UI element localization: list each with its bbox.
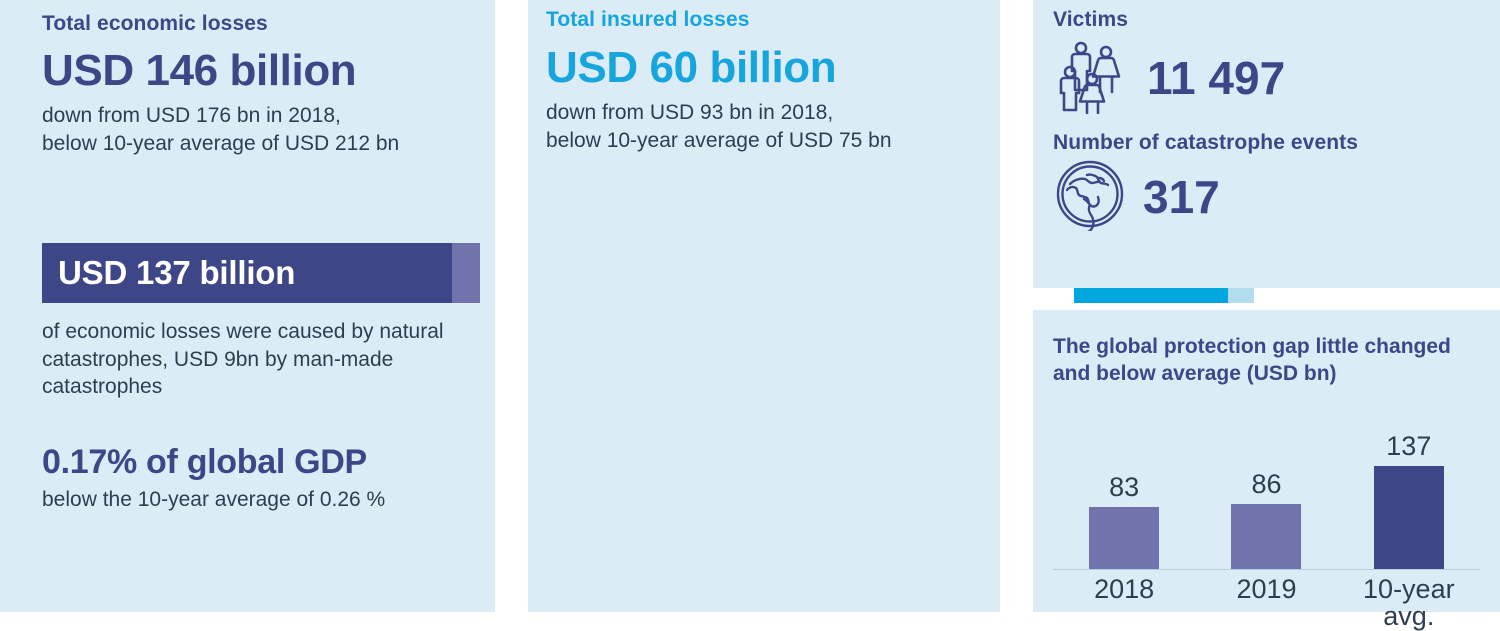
infographic-root: Total economic losses USD 146 billion do… [0,0,1500,612]
economic-nat-cat-bar: USD 137 billion [42,243,480,303]
chart-value-label: 137 [1386,433,1431,460]
chart-category-labels: 2018 2019 10-year avg. [1053,576,1480,630]
economic-bar-segment-manmade [452,243,480,303]
chart-column: 137 [1349,433,1469,569]
family-people-icon [1053,36,1131,119]
panel-total-insured-losses: Total insured losses USD 60 billion down… [528,0,1000,612]
insured-eyebrow-label: Total insured losses [546,8,982,32]
victims-stat-row: 11 497 [1053,36,1480,119]
chart-content: The global protection gap little changed… [1033,310,1500,630]
economic-gdp-subtext: below the 10-year average of 0.26 % [42,486,462,514]
chart-title: The global protection gap little changed… [1053,334,1480,388]
catastrophe-events-label: Number of catastrophe events [1053,131,1480,155]
economic-headline: USD 146 billion [42,48,453,94]
economic-gdp-block: 0.17% of global GDP below the 10-year av… [42,443,462,513]
chart-bar [1089,507,1159,569]
panel-total-economic-losses: Total economic losses USD 146 billion do… [0,0,495,612]
chart-plot-area: 83 86 137 [1053,410,1480,570]
chart-value-label: 83 [1109,474,1139,501]
insured-headline: USD 60 billion [546,45,982,91]
economic-gdp-headline: 0.17% of global GDP [42,443,462,482]
stats-content: Victims [1033,0,1500,236]
economic-subtext: down from USD 176 bn in 2018, below 10-y… [42,102,453,157]
chart-x-axis-line [1053,569,1480,570]
economic-content: Total economic losses USD 146 billion do… [0,0,495,158]
chart-value-label: 86 [1251,471,1281,498]
chart-bar [1231,504,1301,569]
victims-label: Victims [1053,8,1480,32]
events-stat-row: 317 [1053,157,1480,236]
insured-content: Total insured losses USD 60 billion down… [528,0,1000,155]
insured-subtext: down from USD 93 bn in 2018, below 10-ye… [546,99,982,154]
chart-bar-group: 83 86 137 [1053,410,1480,569]
globe-icon [1053,157,1127,236]
chart-bar [1374,466,1444,569]
chart-column: 83 [1064,474,1184,569]
economic-bar-caption: of economic losses were caused by natura… [42,318,452,401]
catastrophe-events-value: 317 [1143,174,1220,220]
chart-category-label: 2019 [1206,576,1326,630]
economic-eyebrow-label: Total economic losses [42,12,453,36]
chart-category-label: 2018 [1064,576,1184,630]
economic-bar-value-label: USD 137 billion [58,254,295,292]
chart-category-label: 10-year avg. [1349,576,1469,630]
panel-protection-gap-chart: The global protection gap little changed… [1033,310,1500,612]
victims-value: 11 497 [1147,55,1285,101]
chart-column: 86 [1206,471,1326,569]
panel-victims-and-events: Victims [1033,0,1500,288]
